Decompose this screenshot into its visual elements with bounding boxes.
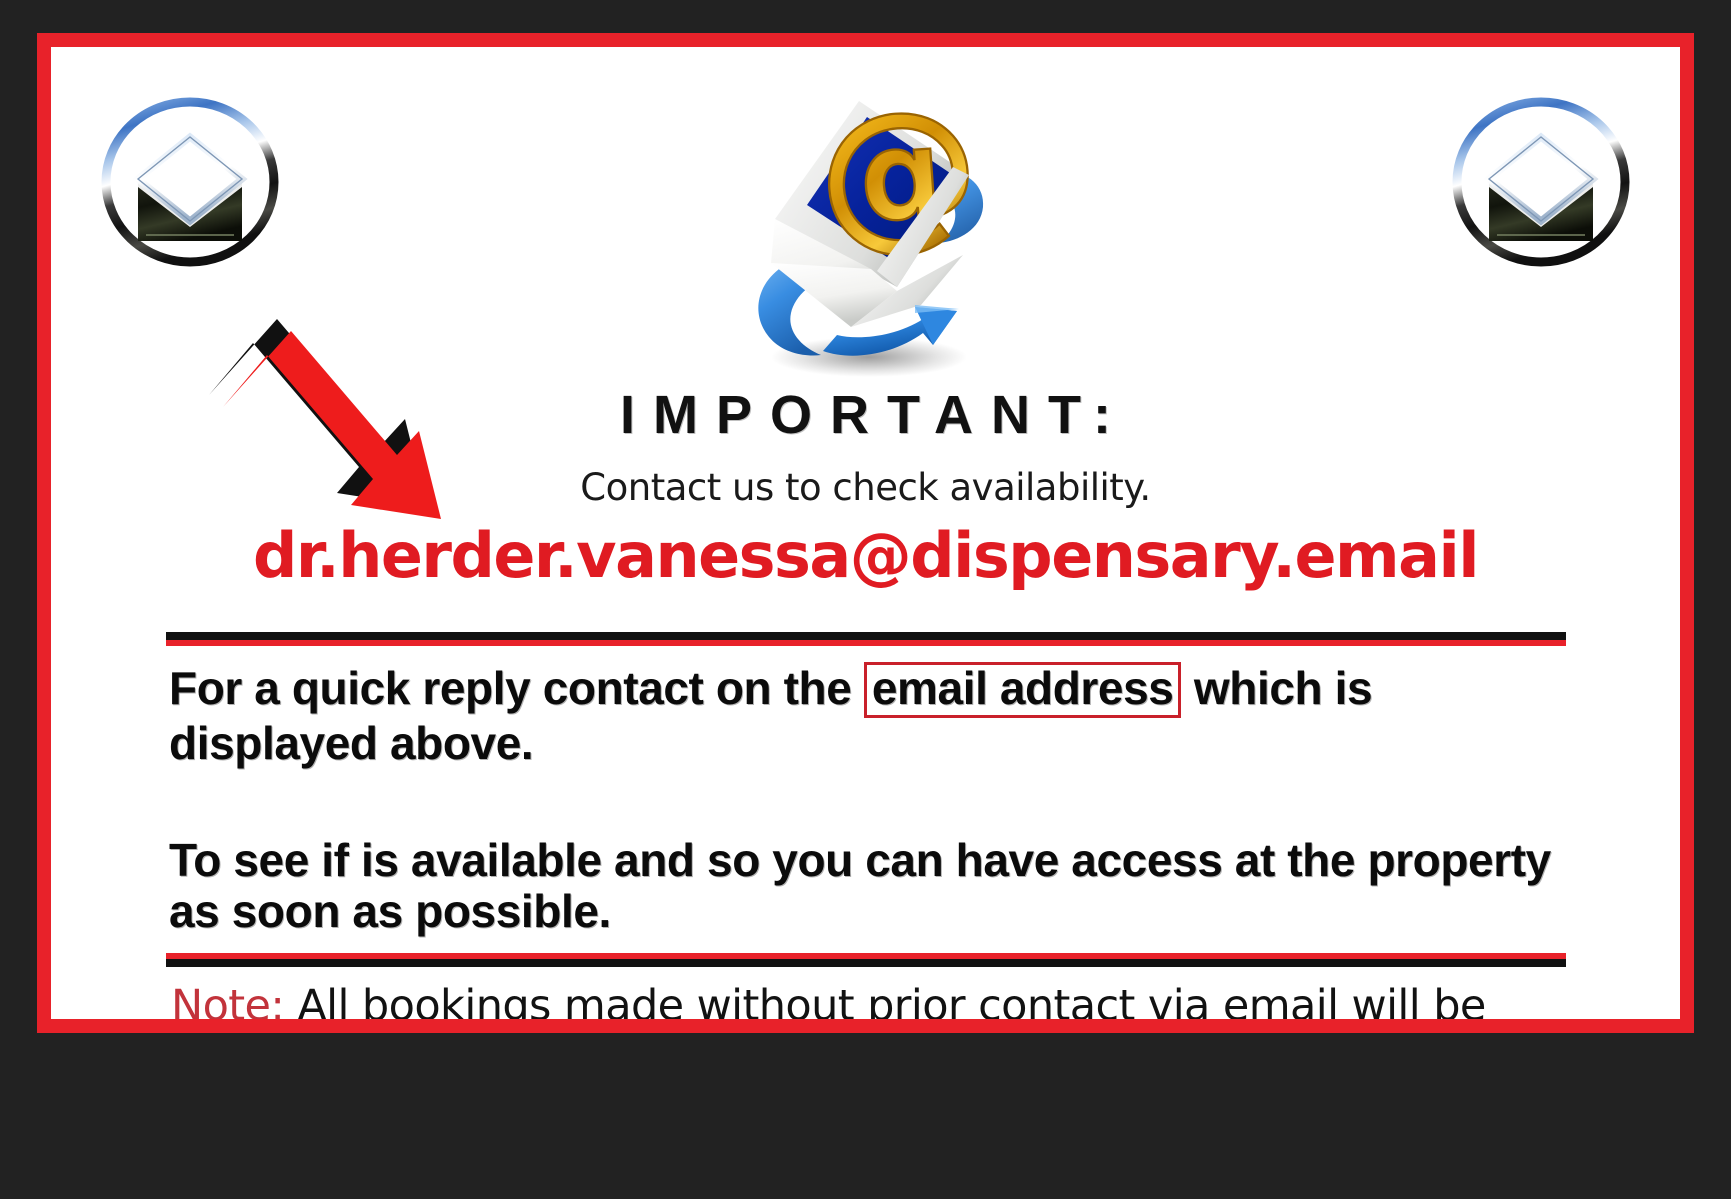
divider-bar-black: [166, 632, 1566, 640]
divider-bottom: [166, 953, 1566, 967]
headline-block: IMPORTANT: Contact us to check availabil…: [51, 387, 1680, 592]
envelope-medallion-icon-left: [94, 97, 286, 267]
availability-subtitle: Contact us to check availability.: [51, 466, 1680, 509]
divider-top: [166, 632, 1566, 646]
email-at-envelope-icon: @: [701, 55, 1031, 385]
body-block: For a quick reply contact on the email a…: [169, 662, 1574, 937]
instruction-paragraph-1: For a quick reply contact on the email a…: [169, 662, 1574, 769]
boxed-email-address-phrase: email address: [864, 662, 1182, 718]
paragraph-1-before: For a quick reply contact on the: [169, 662, 851, 714]
contact-email-address[interactable]: dr.herder.vanessa@dispensary.email: [51, 519, 1680, 592]
flyer-card: @: [51, 47, 1680, 1019]
divider-bar-red: [166, 640, 1566, 646]
instruction-paragraph-2: To see if is available and so you can ha…: [169, 835, 1574, 937]
note-label: Note:: [171, 981, 284, 1019]
note-block: Note: All bookings made without prior co…: [171, 977, 1571, 1019]
page-title: IMPORTANT:: [51, 387, 1680, 444]
flyer-frame: @: [37, 33, 1694, 1033]
divider-bar-black: [166, 959, 1566, 967]
note-text: All bookings made without prior contact …: [171, 981, 1486, 1019]
envelope-medallion-icon-right: [1445, 97, 1637, 267]
